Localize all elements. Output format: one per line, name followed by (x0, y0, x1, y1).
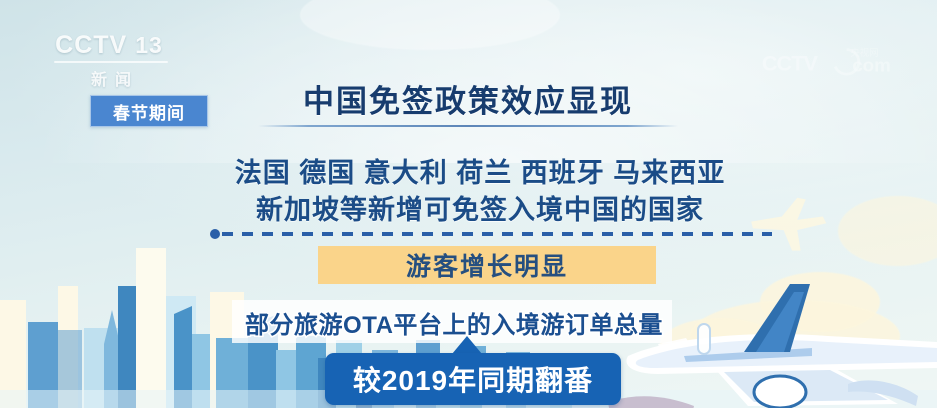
dashed-divider (210, 232, 772, 236)
period-badge: 春节期间 (90, 95, 208, 127)
bubble-pointer-icon (452, 336, 482, 354)
channel-number: 13 (131, 34, 167, 57)
growth-badge: 游客增长明显 (318, 246, 656, 284)
divider-dashes (222, 232, 772, 236)
stat-caption: 部分旅游OTA平台上的入境游订单总量 (236, 305, 672, 340)
cctv-com-watermark: CCTV com 央视网 (760, 44, 920, 78)
cctv13-logo: CCTV 13 新闻 (48, 33, 174, 87)
page-title: 中国免签政策效应显现 (268, 83, 668, 120)
cloud-shape (300, 0, 560, 50)
svg-text:央视网: 央视网 (850, 47, 878, 59)
cctv-wordmark: CCTV (55, 33, 127, 58)
channel-name: 新闻 (48, 66, 174, 90)
broadcast-graphic: CCTV com 央视网 CCTV 13 新闻 春节期间 中国免签政策效应显现 … (0, 0, 937, 408)
country-list-line2: 新加坡等新增可免签入境中国的国家 (210, 192, 750, 229)
title-underline (258, 125, 678, 127)
country-list: 法国 德国 意大利 荷兰 西班牙 马来西亚 新加坡等新增可免签入境中国的国家 (210, 155, 750, 230)
country-list-line1: 法国 德国 意大利 荷兰 西班牙 马来西亚 (235, 158, 726, 188)
svg-text:CCTV: CCTV (762, 50, 819, 75)
divider-dot (210, 229, 220, 239)
stat-highlight-badge: 较2019年同期翻番 (325, 353, 621, 405)
cctv13-logo-row: CCTV 13 (48, 33, 174, 58)
logo-divider (54, 61, 168, 63)
